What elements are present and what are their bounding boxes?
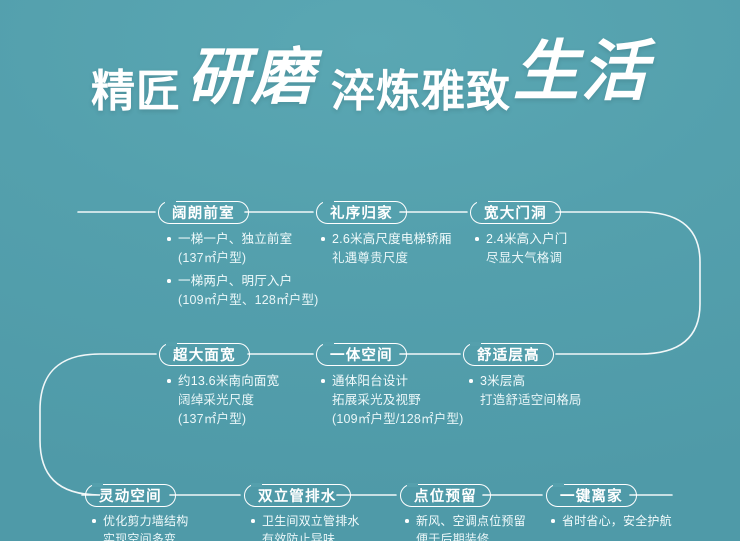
bullet-text: 优化剪力墙结构 (103, 514, 188, 528)
feature-bullets-yijianlijia: 省时省心，安全护航 (550, 512, 672, 530)
bullet-text: 一梯两户、明厅入户 (178, 274, 292, 288)
feature-bullets-kuandamendong: 2.4米高入户门 尽显大气格调 (474, 230, 567, 268)
list-item: 通体阳台设计 拓展采光及视野 (109㎡户型/128㎡户型) (320, 372, 464, 429)
feature-chip-label: 双立管排水 (258, 485, 337, 506)
feature-chip-yitikongjian[interactable]: 一体空间 (316, 343, 407, 366)
bullet-dot-icon (469, 379, 473, 383)
feature-chip-kuolangqianshi[interactable]: 阔朗前室 (158, 201, 249, 224)
list-item: 优化剪力墙结构 实现空间多变 (91, 512, 188, 541)
bullet-text: 通体阳台设计 (332, 374, 408, 388)
feature-bullets-kuolangqianshi: 一梯一户、独立前室 (137㎡户型) 一梯两户、明厅入户 (109㎡户型、128… (166, 230, 319, 310)
bullet-text: 一梯一户、独立前室 (178, 232, 292, 246)
bullet-dot-icon (92, 519, 96, 523)
feature-chip-label: 一键离家 (560, 485, 623, 506)
feature-chip-label: 阔朗前室 (172, 202, 235, 223)
headline-part-1: 精匠 (91, 70, 181, 114)
feature-chip-label: 宽大门洞 (484, 202, 547, 223)
bullet-dot-icon (167, 237, 171, 241)
feature-bullets-shushicenggao: 3米层高 打造舒适空间格局 (468, 372, 582, 410)
bullet-subtext: 拓展采光及视野 (332, 391, 464, 410)
feature-chip-label: 舒适层高 (477, 344, 540, 365)
feature-chip-label: 礼序归家 (330, 202, 393, 223)
list-item: 一梯两户、明厅入户 (109㎡户型、128㎡户型) (166, 272, 319, 310)
bullet-dot-icon (167, 379, 171, 383)
bullet-text: 约13.6米南向面宽 (178, 374, 279, 388)
feature-chip-label: 点位预留 (414, 485, 477, 506)
list-item: 新风、空调点位预留 便于后期装修 (404, 512, 526, 541)
bullet-dot-icon (251, 519, 255, 523)
feature-chip-kuandamendong[interactable]: 宽大门洞 (470, 201, 561, 224)
bullet-subtext: 实现空间多变 (103, 530, 188, 541)
bullet-text: 省时省心，安全护航 (562, 514, 672, 528)
headline-part-2: 研磨 (187, 47, 315, 109)
feature-chip-shuangliguanpaishui[interactable]: 双立管排水 (244, 484, 351, 507)
bullet-dot-icon (475, 237, 479, 241)
bullet-text: 3米层高 (480, 374, 525, 388)
bullet-subtext: (137㎡户型) (178, 249, 319, 268)
bullet-dot-icon (321, 379, 325, 383)
feature-chip-lingdongkongjian[interactable]: 灵动空间 (85, 484, 176, 507)
list-item: 2.6米高尺度电梯轿厢 礼遇尊贵尺度 (320, 230, 452, 268)
feature-chip-label: 超大面宽 (173, 344, 236, 365)
page-title: 精匠研磨淬炼雅致生活 (0, 38, 740, 104)
bullet-text: 2.6米高尺度电梯轿厢 (332, 232, 452, 246)
feature-bullets-chaodamiankuan: 约13.6米南向面宽 阔绰采光尺度 (137㎡户型) (166, 372, 279, 429)
bullet-subtext: 有效防止异味 (262, 530, 360, 541)
bullet-subtext: 打造舒适空间格局 (480, 391, 582, 410)
list-item: 约13.6米南向面宽 阔绰采光尺度 (137㎡户型) (166, 372, 279, 429)
feature-chip-dianweiyuliu[interactable]: 点位预留 (400, 484, 491, 507)
feature-chip-shushicenggao[interactable]: 舒适层高 (463, 343, 554, 366)
feature-chip-label: 一体空间 (330, 344, 393, 365)
list-item: 2.4米高入户门 尽显大气格调 (474, 230, 567, 268)
feature-chip-label: 灵动空间 (99, 485, 162, 506)
list-item: 一梯一户、独立前室 (137㎡户型) (166, 230, 319, 268)
bullet-subtext-2: (137㎡户型) (178, 410, 279, 429)
feature-chip-chaodamiankuan[interactable]: 超大面宽 (159, 343, 250, 366)
bullet-subtext: 尽显大气格调 (486, 249, 567, 268)
list-item: 省时省心，安全护航 (550, 512, 672, 530)
feature-bullets-shuangliguanpaishui: 卫生间双立管排水 有效防止异味 (250, 512, 360, 541)
feature-bullets-dianweiyuliu: 新风、空调点位预留 便于后期装修 (404, 512, 526, 541)
connector-left-u-curve (40, 354, 156, 495)
feature-chip-yijianlijia[interactable]: 一键离家 (546, 484, 637, 507)
bullet-subtext: 礼遇尊贵尺度 (332, 249, 452, 268)
connector-right-u-curve (556, 212, 700, 354)
bullet-subtext-2: (109㎡户型/128㎡户型) (332, 410, 464, 429)
bullet-text: 新风、空调点位预留 (416, 514, 526, 528)
bullet-subtext: (109㎡户型、128㎡户型) (178, 291, 319, 310)
bullet-text: 2.4米高入户门 (486, 232, 567, 246)
list-item: 卫生间双立管排水 有效防止异味 (250, 512, 360, 541)
poster-canvas: 精匠研磨淬炼雅致生活 阔朗前室 一梯一户、独立前室 (137㎡户型) (0, 0, 740, 541)
bullet-subtext: 便于后期装修 (416, 530, 526, 541)
bullet-dot-icon (321, 237, 325, 241)
bullet-dot-icon (551, 519, 555, 523)
bullet-dot-icon (405, 519, 409, 523)
list-item: 3米层高 打造舒适空间格局 (468, 372, 582, 410)
feature-bullets-lixuguijia: 2.6米高尺度电梯轿厢 礼遇尊贵尺度 (320, 230, 452, 268)
bullet-subtext: 阔绰采光尺度 (178, 391, 279, 410)
headline-part-3: 淬炼雅致 (331, 70, 511, 114)
feature-bullets-yitikongjian: 通体阳台设计 拓展采光及视野 (109㎡户型/128㎡户型) (320, 372, 464, 429)
bullet-text: 卫生间双立管排水 (262, 514, 360, 528)
headline-part-4: 生活 (513, 40, 649, 106)
feature-bullets-lingdongkongjian: 优化剪力墙结构 实现空间多变 (91, 512, 188, 541)
feature-chip-lixuguijia[interactable]: 礼序归家 (316, 201, 407, 224)
bullet-dot-icon (167, 279, 171, 283)
